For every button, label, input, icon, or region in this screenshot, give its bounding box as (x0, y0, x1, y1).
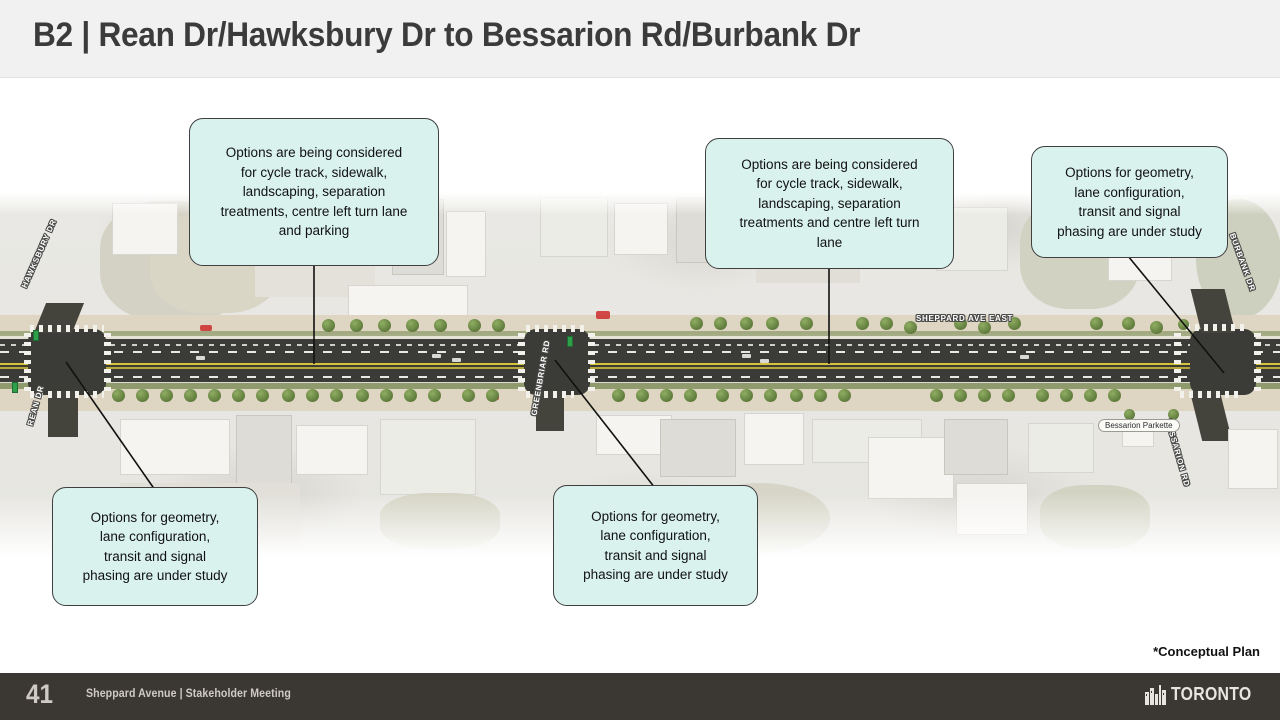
map-tree (184, 389, 197, 402)
callout-bessarion-burbank[interactable]: Options for geometry, lane configuration… (1031, 146, 1228, 258)
map-label-sheppard: SHEPPARD AVE EAST (916, 314, 1013, 323)
map-tree (800, 317, 813, 330)
map-tree (684, 389, 697, 402)
map-tree (740, 317, 753, 330)
page-title: B2 | Rean Dr/Hawksbury Dr to Bessarion R… (33, 16, 860, 55)
map-tree (764, 389, 777, 402)
callout-west-corridor[interactable]: Options are being considered for cycle t… (189, 118, 439, 266)
map-lane-dash (0, 351, 1280, 353)
map-building (944, 419, 1008, 475)
toronto-wordmark: TORONTO (1171, 684, 1251, 705)
page-number: 41 (26, 679, 53, 710)
map-tree (468, 319, 481, 332)
map-signal (12, 382, 18, 393)
map-tree (838, 389, 851, 402)
map-tree (716, 389, 729, 402)
map-crosswalk (1254, 333, 1261, 391)
map-tree (492, 319, 505, 332)
map-building (1228, 429, 1278, 489)
map-tree (378, 319, 391, 332)
map-tree (1178, 319, 1189, 330)
map-lane-dash (0, 376, 1280, 378)
map-crosswalk (1180, 391, 1238, 398)
map-vegetation (1040, 485, 1150, 549)
map-tree (160, 389, 173, 402)
map-building (296, 425, 368, 475)
map-building (112, 203, 178, 255)
conceptual-plan-note: *Conceptual Plan (1153, 644, 1260, 659)
toronto-skyline-icon (1145, 685, 1167, 705)
map-lane-dash (0, 344, 1280, 346)
map-tree (636, 389, 649, 402)
map-vehicle (742, 354, 751, 358)
map-building (446, 211, 486, 277)
map-signal (33, 330, 39, 341)
map-vehicle (760, 359, 769, 363)
map-vehicle (432, 354, 441, 358)
toronto-logo: TORONTO (1145, 684, 1262, 705)
map-crosswalk (1174, 333, 1181, 391)
map-crosswalk (1186, 324, 1244, 331)
map-vehicle (452, 358, 461, 362)
map-vehicle-red (200, 325, 212, 331)
callout-rean-hawksbury[interactable]: Options for geometry, lane configuration… (52, 487, 258, 606)
slide-header: B2 | Rean Dr/Hawksbury Dr to Bessarion R… (0, 0, 1280, 78)
map-tree (1122, 317, 1135, 330)
map-tree (136, 389, 149, 402)
map-crosswalk (24, 333, 31, 391)
map-vehicle-red (596, 311, 610, 319)
map-centre-line (0, 363, 1280, 365)
map-tree (356, 389, 369, 402)
map-tree (232, 389, 245, 402)
map-crosswalk (518, 333, 525, 391)
callout-greenbriar[interactable]: Options for geometry, lane configuration… (553, 485, 758, 606)
map-tree (462, 389, 475, 402)
map-crosswalk (104, 333, 111, 391)
map-tree (1090, 317, 1103, 330)
slide-root: B2 | Rean Dr/Hawksbury Dr to Bessarion R… (0, 0, 1280, 720)
map-vegetation (380, 493, 500, 549)
map-tree (1060, 389, 1073, 402)
map-building (660, 419, 736, 477)
map-crosswalk (526, 325, 588, 332)
map-tree (380, 389, 393, 402)
map-tree (880, 317, 893, 330)
map-tree (766, 317, 779, 330)
map-building (236, 415, 292, 487)
map-building (868, 437, 954, 499)
map-building (1028, 423, 1094, 473)
map-tree (434, 319, 447, 332)
map-tree (1108, 389, 1121, 402)
footer-subtitle: Sheppard Avenue | Stakeholder Meeting (86, 688, 291, 700)
map-tree (330, 389, 343, 402)
map-tree (790, 389, 803, 402)
map-building (380, 419, 476, 495)
map-tree (406, 319, 419, 332)
map-tree (256, 389, 269, 402)
map-tree (978, 389, 991, 402)
map-tree (814, 389, 827, 402)
map-tree (740, 389, 753, 402)
map-label-bessarion-parkette: Bessarion Parkette (1098, 419, 1180, 432)
map-tree (1002, 389, 1015, 402)
map-tree (1150, 321, 1163, 334)
map-tree (1036, 389, 1049, 402)
map-tree (428, 389, 441, 402)
slide-footer: 41 Sheppard Avenue | Stakeholder Meeting… (0, 673, 1280, 720)
map-tree (282, 389, 295, 402)
map-crosswalk (30, 325, 104, 332)
map-intersection-bessarion-burbank (1190, 329, 1256, 395)
map-tree (486, 389, 499, 402)
map-tree (322, 319, 335, 332)
map-centre-line (0, 367, 1280, 369)
map-tree (306, 389, 319, 402)
map-crosswalk (588, 333, 595, 391)
map-tree (208, 389, 221, 402)
map-tree (112, 389, 125, 402)
map-tree (660, 389, 673, 402)
map-building (614, 203, 668, 255)
map-grass-strip-north (0, 331, 1280, 336)
map-tree (714, 317, 727, 330)
map-building (956, 483, 1028, 535)
map-building (744, 413, 804, 465)
map-tree (350, 319, 363, 332)
map-tree (856, 317, 869, 330)
map-tree (954, 389, 967, 402)
map-tree (404, 389, 417, 402)
callout-east-corridor[interactable]: Options are being considered for cycle t… (705, 138, 954, 269)
map-tree (612, 389, 625, 402)
map-tree (690, 317, 703, 330)
map-tree (930, 389, 943, 402)
map-vehicle (196, 356, 205, 360)
map-signal (567, 336, 573, 347)
map-tree (1084, 389, 1097, 402)
map-edge-line (0, 382, 1280, 383)
map-building (540, 197, 608, 257)
map-vehicle (1020, 355, 1029, 359)
map-building (120, 419, 230, 475)
